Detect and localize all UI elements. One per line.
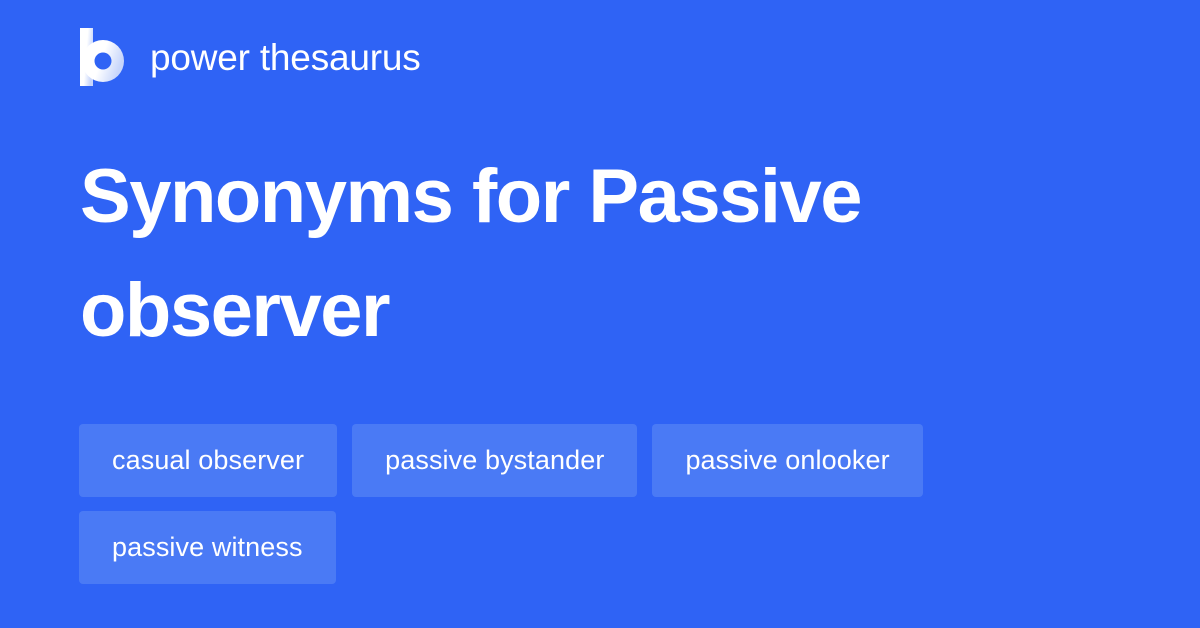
synonym-chip[interactable]: passive onlooker <box>652 424 922 497</box>
share-card: power thesaurus Synonyms for Passive obs… <box>0 0 1200 628</box>
brand-name: power thesaurus <box>150 39 421 76</box>
synonym-chip[interactable]: passive witness <box>79 511 336 584</box>
synonym-list: casual observer passive bystander passiv… <box>79 424 1139 584</box>
synonym-chip[interactable]: passive bystander <box>352 424 637 497</box>
brand-logo[interactable]: power thesaurus <box>80 26 421 88</box>
power-thesaurus-b-logo-icon <box>80 28 124 86</box>
page-title: Synonyms for Passive observer <box>80 140 1080 368</box>
synonym-chip[interactable]: casual observer <box>79 424 337 497</box>
